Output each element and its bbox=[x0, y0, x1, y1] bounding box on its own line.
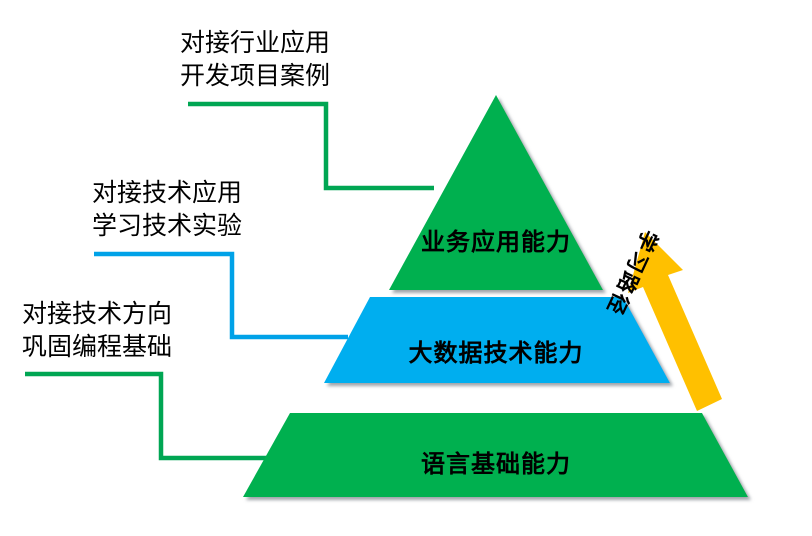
callout-label-top: 对接行业应用 开发项目案例 bbox=[180, 26, 330, 92]
callout-middle-line-2: 学习技术实验 bbox=[92, 209, 242, 242]
pyramid-tier-top[interactable] bbox=[389, 95, 603, 290]
pyramid-tier-bottom-label: 语言基础能力 bbox=[396, 444, 596, 479]
pyramid-tier-top-label: 业务应用能力 bbox=[396, 222, 596, 257]
callout-label-middle: 对接技术应用 学习技术实验 bbox=[92, 176, 242, 242]
callout-middle-line-1: 对接技术应用 bbox=[92, 176, 242, 209]
callout-top-line-2: 开发项目案例 bbox=[180, 59, 330, 92]
callout-bottom-line-1: 对接技术方向 bbox=[22, 297, 172, 330]
callout-label-bottom: 对接技术方向 巩固编程基础 bbox=[22, 297, 172, 363]
callout-top-line-1: 对接行业应用 bbox=[180, 26, 330, 59]
pyramid-tier-middle-label: 大数据技术能力 bbox=[396, 333, 596, 368]
diagram-canvas: 对接行业应用 开发项目案例 对接技术应用 学习技术实验 对接技术方向 巩固编程基… bbox=[0, 0, 812, 536]
connector-line-bottom bbox=[25, 374, 268, 458]
callout-bottom-line-2: 巩固编程基础 bbox=[22, 330, 172, 363]
